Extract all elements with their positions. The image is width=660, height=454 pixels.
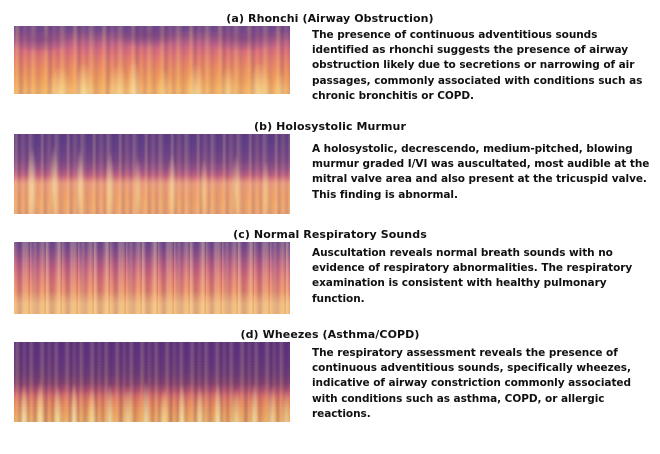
- spectrogram-grain-layer: [14, 26, 290, 94]
- panel-caption-c: (c) Normal Respiratory Sounds: [0, 228, 660, 242]
- panel-description-c: Auscultation reveals normal breath sound…: [312, 246, 656, 307]
- wheezes-spectrogram: [14, 342, 290, 422]
- panel-description-d: The respiratory assessment reveals the p…: [312, 346, 656, 422]
- rhonchi-spectrogram: [14, 26, 290, 94]
- panel-caption-d: (d) Wheezes (Asthma/COPD): [0, 328, 660, 342]
- holosystolic-murmur-spectrogram: [14, 134, 290, 214]
- spectrogram-grain-layer: [14, 134, 290, 214]
- panel-caption-b: (b) Holosystolic Murmur: [0, 120, 660, 134]
- panel-rhonchi: (a) Rhonchi (Airway Obstruction) The pre…: [0, 12, 660, 26]
- spectrogram-grain-layer: [14, 342, 290, 422]
- panel-caption-a: (a) Rhonchi (Airway Obstruction): [0, 12, 660, 26]
- panel-wheezes: (d) Wheezes (Asthma/COPD) The respirator…: [0, 328, 660, 342]
- panel-description-b: A holosystolic, decrescendo, medium-pitc…: [312, 142, 656, 203]
- audio-spectrogram-figure: (a) Rhonchi (Airway Obstruction) The pre…: [0, 0, 660, 454]
- normal-respiratory-spectrogram: [14, 242, 290, 314]
- panel-description-a: The presence of continuous adventitious …: [312, 28, 656, 104]
- panel-normal-respiratory-sounds: (c) Normal Respiratory Sounds Auscultati…: [0, 228, 660, 242]
- spectrogram-grain-layer: [14, 242, 290, 314]
- panel-holosystolic-murmur: (b) Holosystolic Murmur A holosystolic, …: [0, 120, 660, 134]
